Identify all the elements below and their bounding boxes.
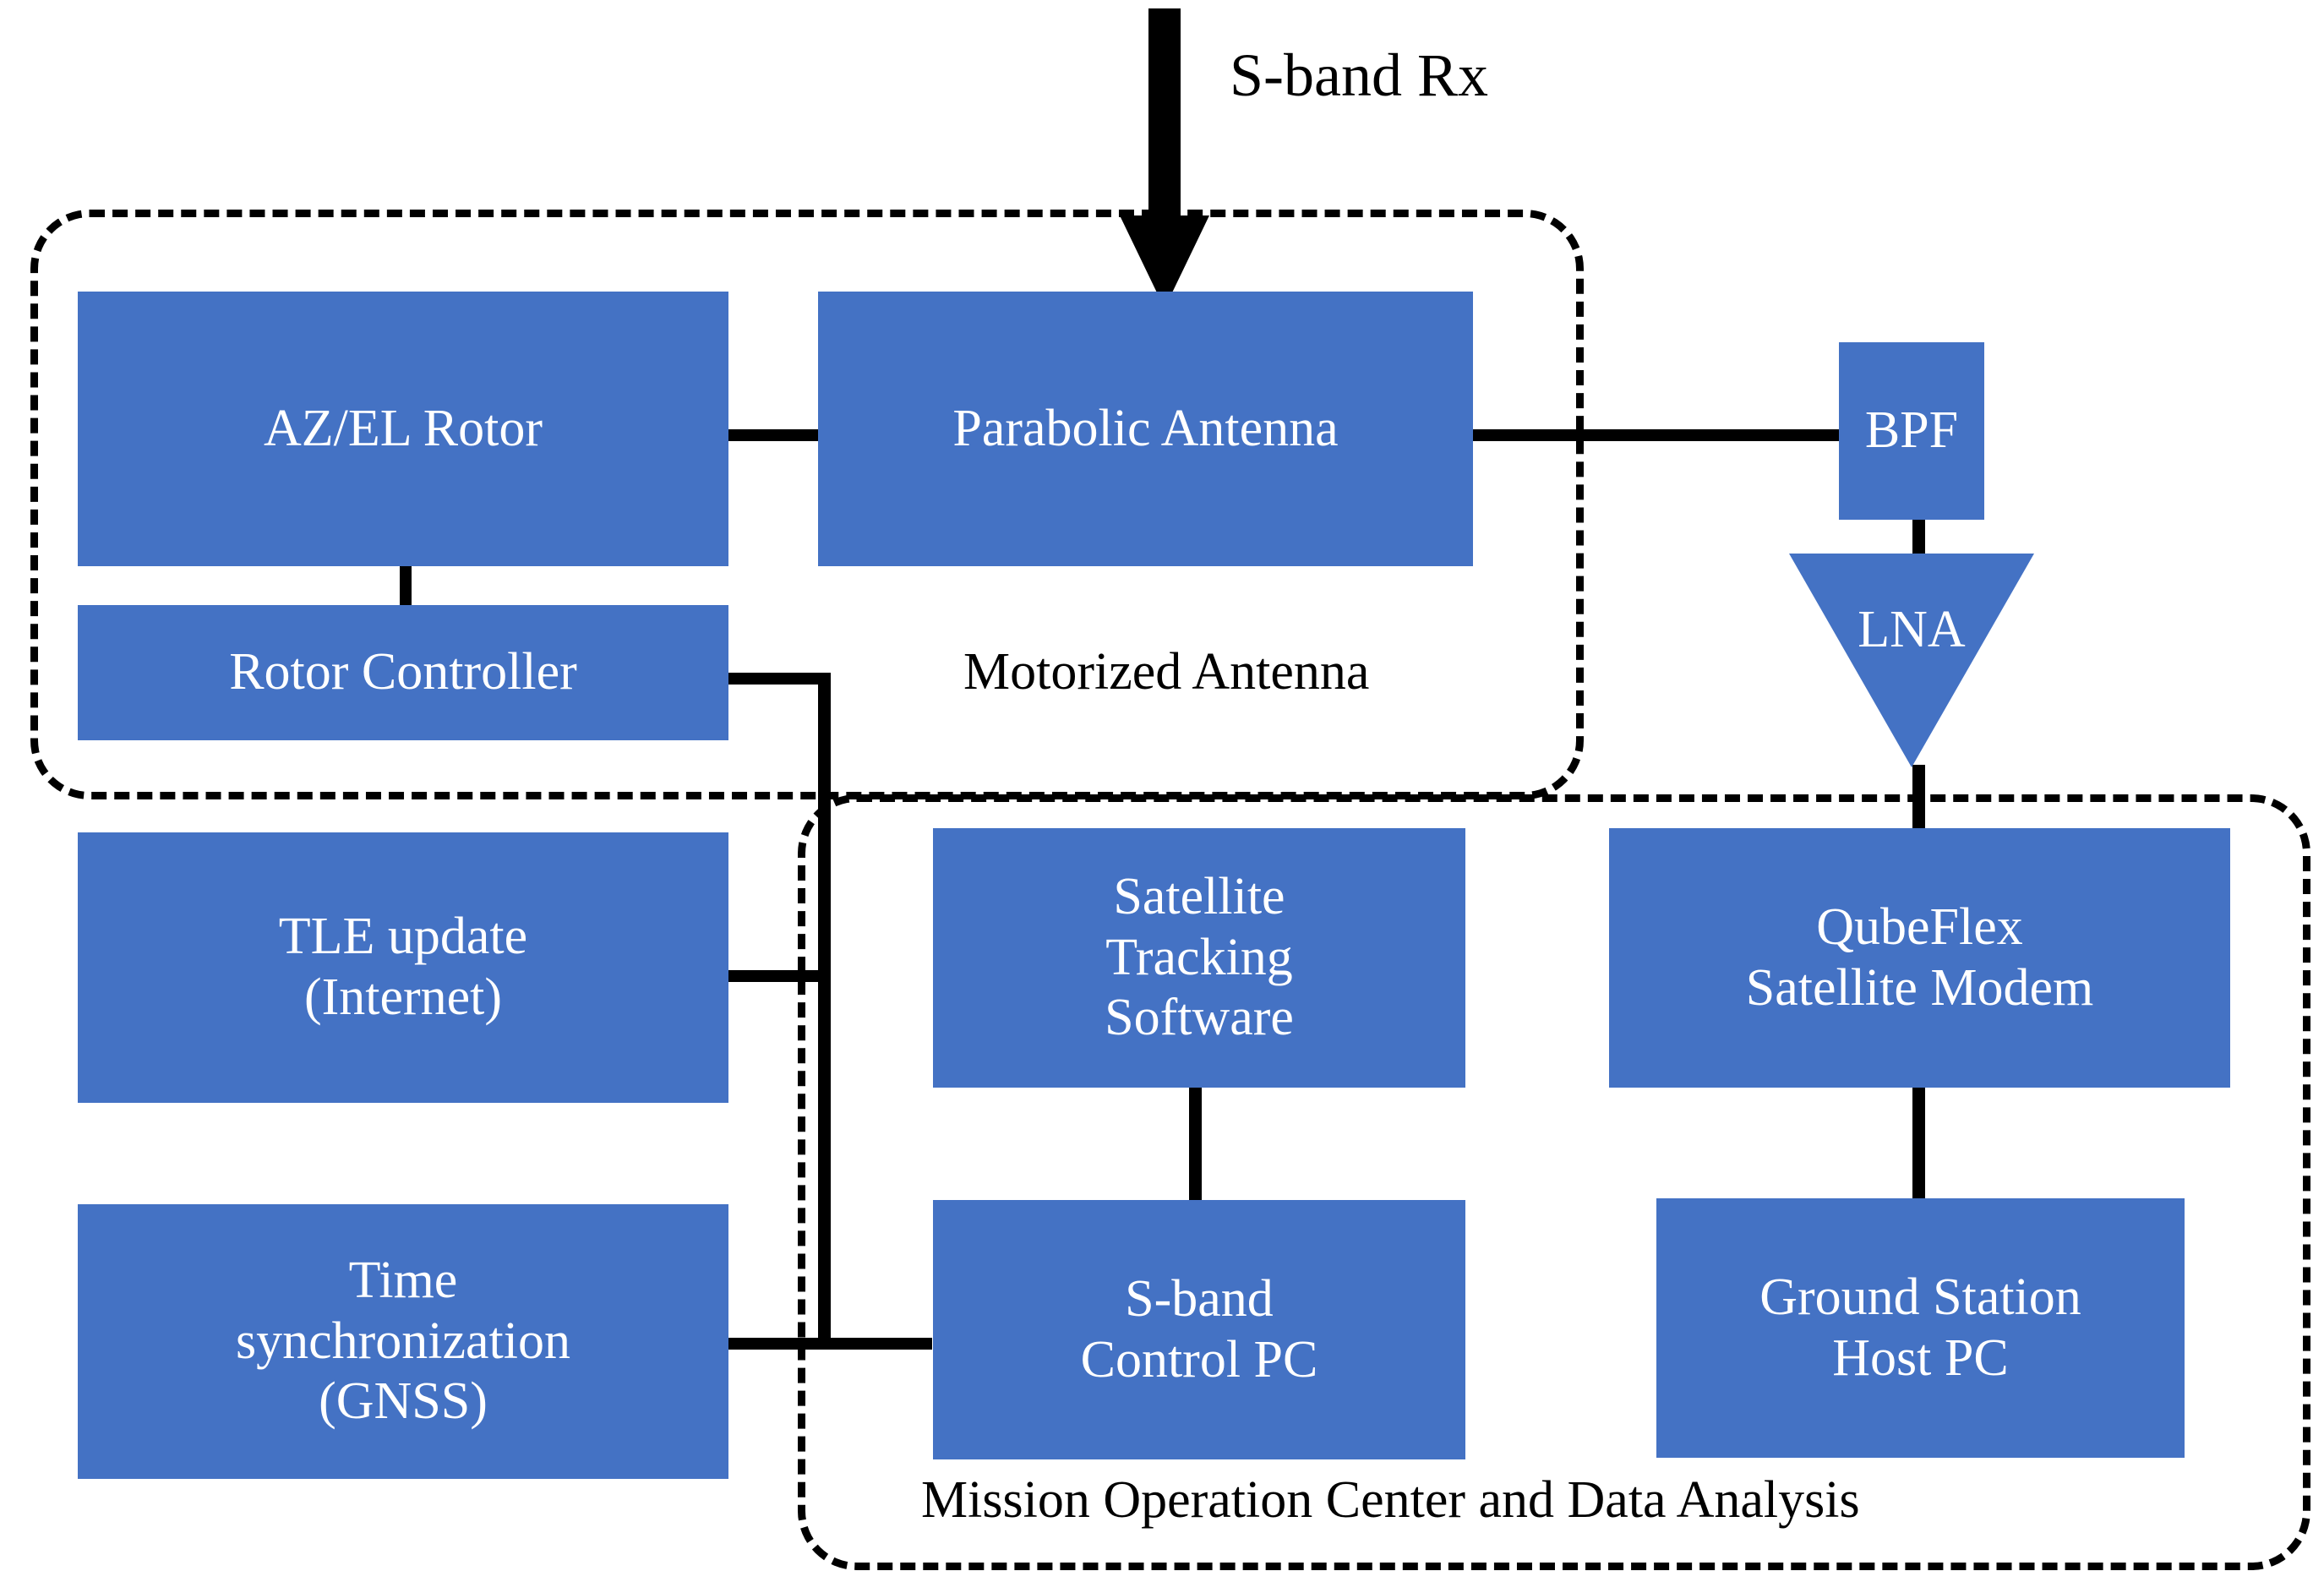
node-satellite-tracking-software-label: Satellite Tracking Software xyxy=(1105,867,1294,1050)
node-tle-update[interactable]: TLE update (Internet) xyxy=(78,832,728,1103)
node-qubeflex-modem-label: QubeFlex Satellite Modem xyxy=(1746,897,2094,1019)
node-bpf-label: BPF xyxy=(1865,401,1958,461)
node-s-band-control-pc[interactable]: S-band Control PC xyxy=(933,1200,1465,1459)
wire-lna-to-modem xyxy=(1912,765,1925,832)
wire-bus-trunk-vertical xyxy=(818,673,831,1349)
down-arrow-icon xyxy=(1114,8,1215,308)
node-lna[interactable]: LNA xyxy=(1789,554,2034,767)
wire-modem-to-host-pc xyxy=(1912,1087,1925,1201)
node-rotor-controller-label: Rotor Controller xyxy=(229,642,577,703)
group-motorized-antenna-label: Motorized Antenna xyxy=(963,642,1369,702)
node-az-el-rotor-label: AZ/EL Rotor xyxy=(264,399,543,460)
wire-tracking-software-to-control-pc xyxy=(1189,1088,1202,1200)
wire-bus-to-control-pc xyxy=(818,1338,932,1350)
wire-rotor-to-antenna xyxy=(727,429,820,441)
wire-antenna-to-bpf xyxy=(1470,429,1842,441)
wire-tle-update-to-bus xyxy=(727,970,830,982)
node-az-el-rotor[interactable]: AZ/EL Rotor xyxy=(78,292,728,566)
node-ground-station-host-pc[interactable]: Ground Station Host PC xyxy=(1656,1198,2185,1458)
wire-rotor-to-controller xyxy=(400,566,412,605)
node-parabolic-antenna[interactable]: Parabolic Antenna xyxy=(818,292,1473,566)
node-qubeflex-modem[interactable]: QubeFlex Satellite Modem xyxy=(1609,828,2230,1088)
wire-rotor-controller-to-bus xyxy=(727,673,830,685)
signal-arrow-label: S-band Rx xyxy=(1230,41,1488,111)
node-bpf[interactable]: BPF xyxy=(1839,342,1984,520)
node-time-sync-label: Time synchronization (GNSS) xyxy=(236,1251,570,1433)
node-tle-update-label: TLE update (Internet) xyxy=(279,907,527,1028)
node-satellite-tracking-software[interactable]: Satellite Tracking Software xyxy=(933,828,1465,1088)
wire-time-sync-to-bus xyxy=(727,1338,830,1350)
node-ground-station-host-pc-label: Ground Station Host PC xyxy=(1759,1268,2081,1389)
node-parabolic-antenna-label: Parabolic Antenna xyxy=(952,399,1338,460)
group-mission-operation-center-label: Mission Operation Center and Data Analys… xyxy=(921,1470,1860,1530)
node-rotor-controller[interactable]: Rotor Controller xyxy=(78,605,728,740)
node-time-sync[interactable]: Time synchronization (GNSS) xyxy=(78,1204,728,1479)
block-diagram-canvas: S-band Rx Motorized Antenna Mission Oper… xyxy=(0,0,2324,1571)
node-s-band-control-pc-label: S-band Control PC xyxy=(1081,1269,1318,1391)
